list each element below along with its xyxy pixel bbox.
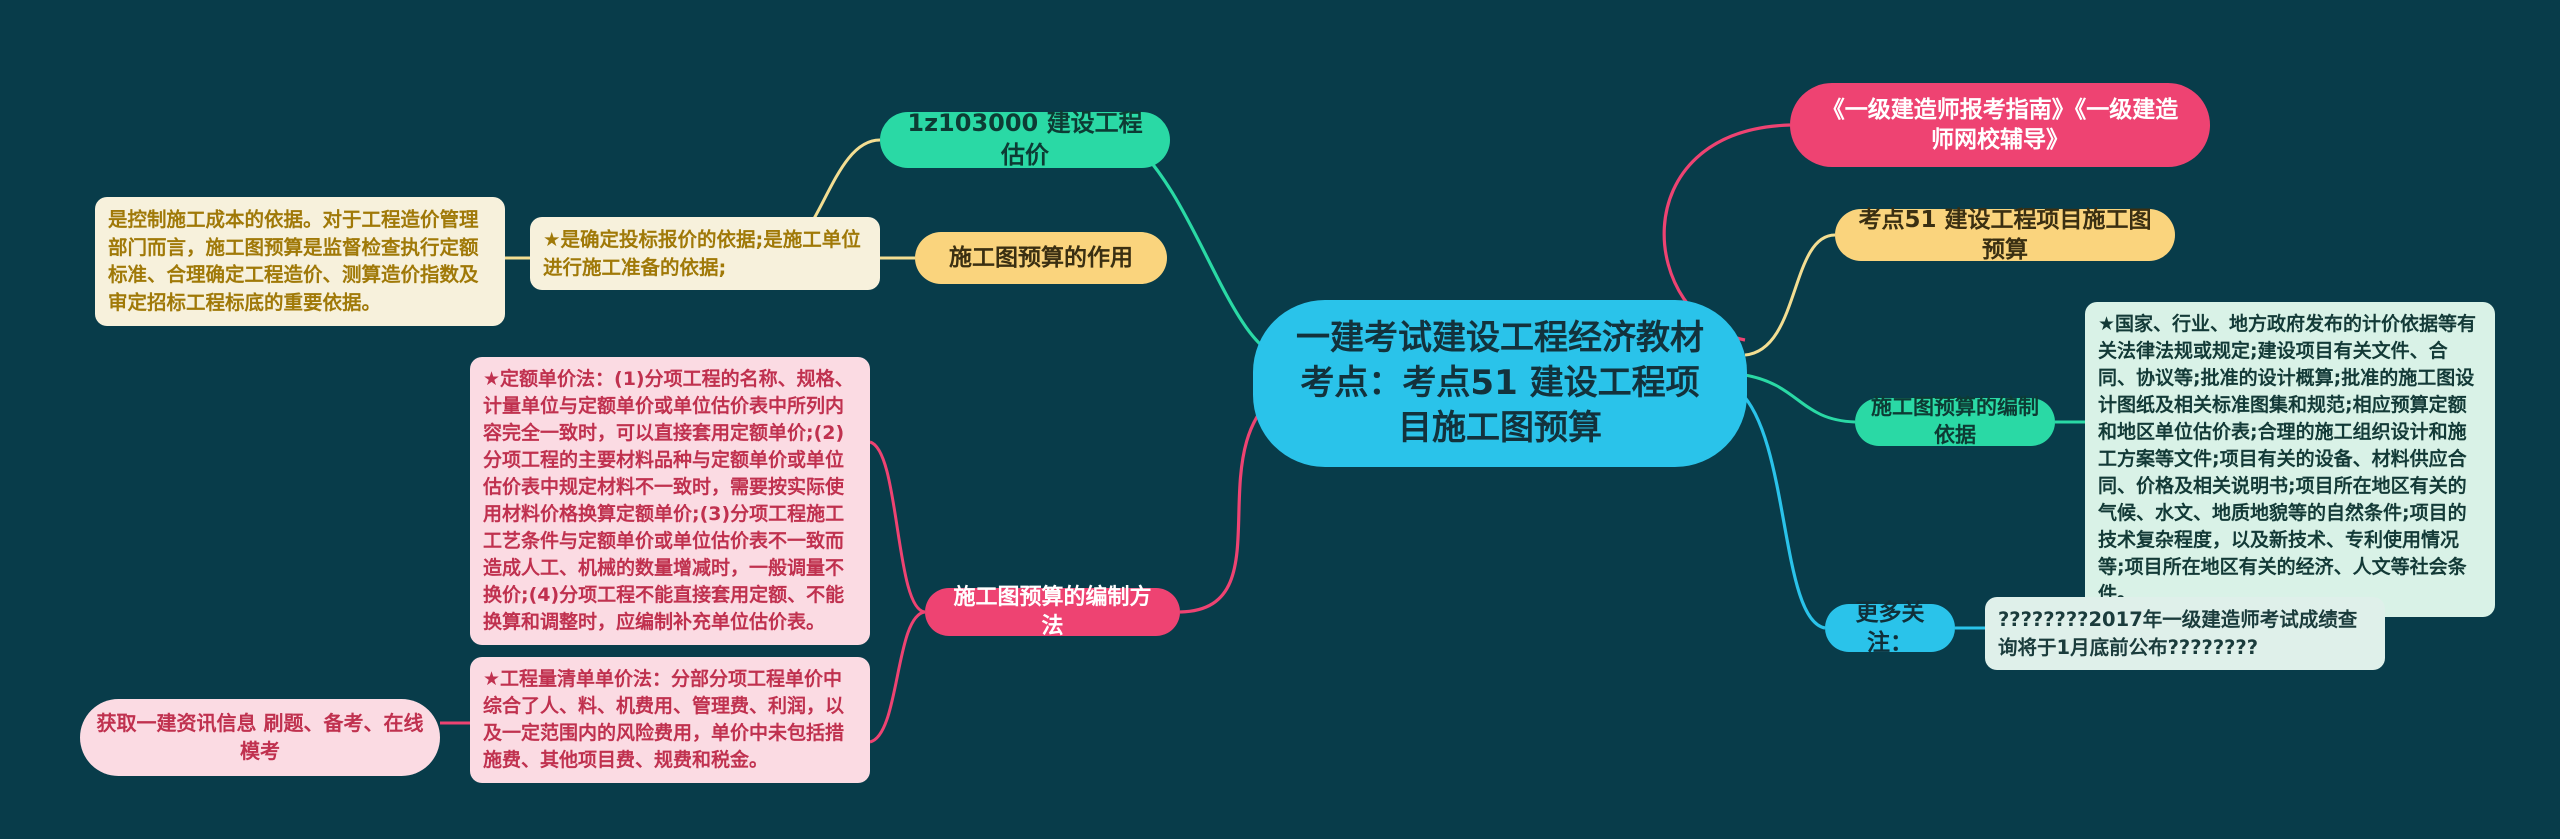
node-chapter-label: 1z103000 建设工程估价 — [902, 108, 1148, 171]
central-topic[interactable]: 一建考试建设工程经济教材考点：考点51 建设工程项目施工图预算 — [1255, 302, 1745, 465]
node-guide[interactable]: 《一级建造师报考指南》《一级建造师网校辅导》 — [1790, 83, 2210, 167]
node-guide-label: 《一级建造师报考指南》《一级建造师网校辅导》 — [1816, 95, 2184, 156]
leaf-role-detail-1-text: 是控制施工成本的依据。对于工程造价管理部门而言，施工图预算是监督检查执行定额标准… — [108, 208, 479, 314]
leaf-method-detail-1-text: ★定额单价法：(1)分项工程的名称、规格、计量单位与定额单价或单位估价表中所列内… — [483, 368, 854, 633]
leaf-more-detail-text: ????????2017年一级建造师考试成绩查询将于1月底前公布???????? — [1998, 608, 2357, 659]
connector-keypoint — [1745, 235, 1835, 355]
leaf-method-detail-3-text: 获取一建资讯信息 刷题、备考、在线模考 — [97, 711, 424, 763]
node-keypoint-label: 考点51 建设工程项目施工图预算 — [1857, 205, 2153, 266]
leaf-method-detail-3[interactable]: 获取一建资讯信息 刷题、备考、在线模考 — [80, 699, 440, 776]
leaf-method-detail-2[interactable]: ★工程量清单单价法：分部分项工程单价中综合了人、料、机费用、管理费、利润，以及一… — [470, 657, 870, 783]
connector-method-detail2 — [870, 612, 925, 742]
node-role[interactable]: 施工图预算的作用 — [915, 232, 1167, 284]
leaf-basis-detail[interactable]: ★国家、行业、地方政府发布的计价依据等有关法律法规或规定;建设项目有关文件、合同… — [2085, 302, 2495, 617]
connector-basis — [1745, 375, 1855, 422]
leaf-basis-detail-text: ★国家、行业、地方政府发布的计价依据等有关法律法规或规定;建设项目有关文件、合同… — [2098, 313, 2476, 605]
leaf-role-detail-1[interactable]: 是控制施工成本的依据。对于工程造价管理部门而言，施工图预算是监督检查执行定额标准… — [95, 197, 505, 326]
node-more-label: 更多关注： — [1837, 598, 1943, 659]
node-keypoint[interactable]: 考点51 建设工程项目施工图预算 — [1835, 209, 2175, 261]
node-basis-label: 施工图预算的编制依据 — [1867, 394, 2043, 449]
leaf-more-detail[interactable]: ????????2017年一级建造师考试成绩查询将于1月底前公布???????? — [1985, 597, 2385, 670]
connector-method-detail1 — [870, 442, 925, 612]
node-chapter[interactable]: 1z103000 建设工程估价 — [880, 112, 1170, 168]
node-more[interactable]: 更多关注： — [1825, 604, 1955, 652]
node-method[interactable]: 施工图预算的编制方法 — [925, 588, 1180, 636]
leaf-method-detail-1[interactable]: ★定额单价法：(1)分项工程的名称、规格、计量单位与定额单价或单位估价表中所列内… — [470, 357, 870, 645]
node-role-label: 施工图预算的作用 — [949, 243, 1133, 273]
leaf-role-detail-2-text: ★是确定投标报价的依据;是施工单位进行施工准备的依据; — [543, 228, 861, 279]
central-topic-label: 一建考试建设工程经济教材考点：考点51 建设工程项目施工图预算 — [1289, 316, 1711, 451]
connector-more — [1740, 392, 1825, 628]
node-basis[interactable]: 施工图预算的编制依据 — [1855, 398, 2055, 446]
node-method-label: 施工图预算的编制方法 — [947, 583, 1158, 641]
leaf-role-detail-2[interactable]: ★是确定投标报价的依据;是施工单位进行施工准备的依据; — [530, 217, 880, 290]
mindmap-canvas: 一建考试建设工程经济教材考点：考点51 建设工程项目施工图预算 1z103000… — [0, 0, 2560, 839]
leaf-method-detail-2-text: ★工程量清单单价法：分部分项工程单价中综合了人、料、机费用、管理费、利润，以及一… — [483, 668, 844, 771]
